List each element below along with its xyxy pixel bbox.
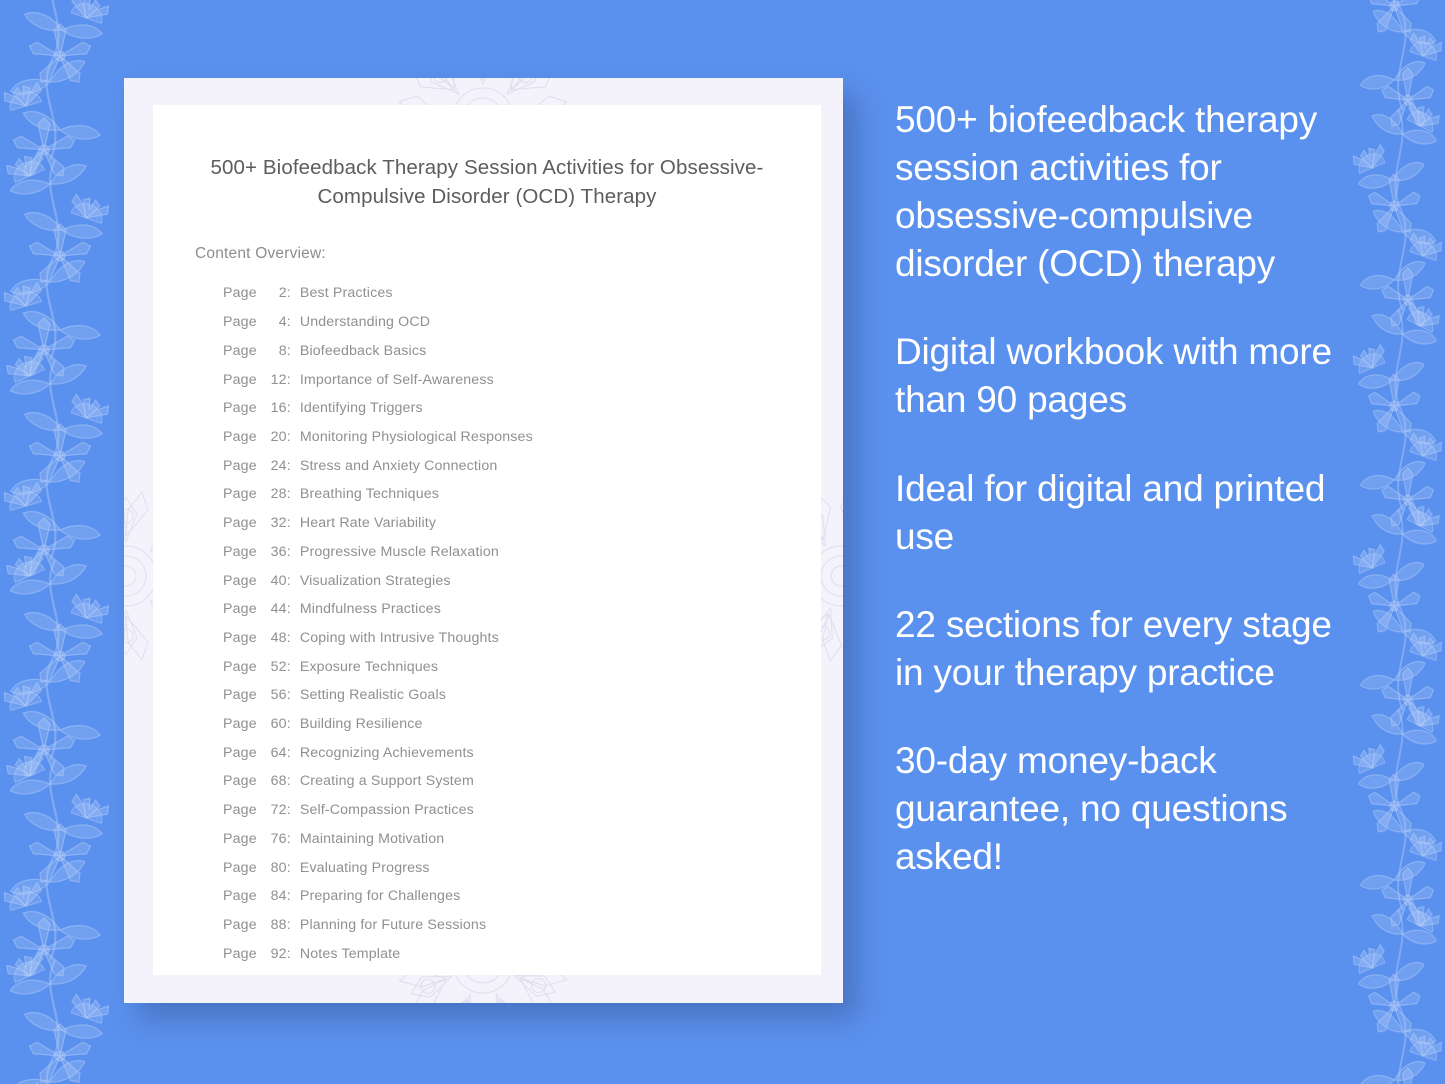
workbook-page: 500+ Biofeedback Therapy Session Activit…: [153, 105, 821, 975]
toc-entry-title: Creating a Support System: [300, 774, 474, 788]
toc-entry: Page24:Stress and Anxiety Connection: [223, 451, 821, 480]
toc-page-word: Page: [223, 889, 257, 903]
toc-page-word: Page: [223, 430, 257, 444]
toc-entry-title: Notes Template: [300, 947, 400, 961]
toc-page-number: 72: [261, 803, 287, 817]
toc-page-number: 20: [261, 430, 287, 444]
toc-page-number: 64: [261, 746, 287, 760]
toc-page-number: 12: [261, 373, 287, 387]
toc-page-number: 88: [261, 918, 287, 932]
toc-colon: :: [287, 459, 291, 473]
toc-colon: :: [287, 430, 291, 444]
toc-entry: Page84:Preparing for Challenges: [223, 882, 821, 911]
marketing-copy: 500+ biofeedback therapy session activit…: [895, 96, 1355, 881]
toc-page-number: 40: [261, 574, 287, 588]
toc-entry-title: Biofeedback Basics: [300, 344, 427, 358]
toc-colon: :: [287, 832, 291, 846]
toc-entry-title: Identifying Triggers: [300, 401, 423, 415]
toc-entry: Page20:Monitoring Physiological Response…: [223, 423, 821, 452]
toc-page-number: 84: [261, 889, 287, 903]
toc-page-number: 36: [261, 545, 287, 559]
toc-entry-title: Recognizing Achievements: [300, 746, 474, 760]
toc-page-number: 60: [261, 717, 287, 731]
workbook-card: 500+ Biofeedback Therapy Session Activit…: [124, 78, 843, 1003]
toc-entry: Page36:Progressive Muscle Relaxation: [223, 538, 821, 567]
toc-page-number: 56: [261, 688, 287, 702]
toc-entry: Page68:Creating a Support System: [223, 767, 821, 796]
toc-entry: Page88:Planning for Future Sessions: [223, 911, 821, 940]
toc-page-word: Page: [223, 286, 257, 300]
toc-page-word: Page: [223, 344, 257, 358]
marketing-block: Ideal for digital and printed use: [895, 465, 1355, 561]
toc-page-word: Page: [223, 746, 257, 760]
toc-entry-title: Evaluating Progress: [300, 861, 430, 875]
toc-colon: :: [287, 344, 291, 358]
toc-colon: :: [287, 918, 291, 932]
toc-page-word: Page: [223, 487, 257, 501]
table-of-contents: Page2:Best PracticesPage4:Understanding …: [153, 263, 821, 968]
toc-page-word: Page: [223, 832, 257, 846]
toc-entry: Page16:Identifying Triggers: [223, 394, 821, 423]
toc-page-word: Page: [223, 459, 257, 473]
toc-entry-title: Setting Realistic Goals: [300, 688, 446, 702]
marketing-block: 22 sections for every stage in your ther…: [895, 601, 1355, 697]
toc-page-word: Page: [223, 947, 257, 961]
toc-colon: :: [287, 947, 291, 961]
toc-entry-title: Progressive Muscle Relaxation: [300, 545, 499, 559]
toc-entry-title: Building Resilience: [300, 717, 423, 731]
content-overview-label: Content Overview:: [153, 211, 821, 263]
toc-colon: :: [287, 889, 291, 903]
toc-entry-title: Best Practices: [300, 286, 393, 300]
toc-colon: :: [287, 315, 291, 329]
toc-entry-title: Understanding OCD: [300, 315, 430, 329]
left-floral-border: [0, 0, 130, 1084]
toc-colon: :: [287, 516, 291, 530]
toc-entry-title: Heart Rate Variability: [300, 516, 436, 530]
toc-colon: :: [287, 688, 291, 702]
toc-entry: Page48:Coping with Intrusive Thoughts: [223, 624, 821, 653]
toc-page-word: Page: [223, 717, 257, 731]
toc-colon: :: [287, 746, 291, 760]
page-title: 500+ Biofeedback Therapy Session Activit…: [153, 105, 821, 211]
toc-entry-title: Monitoring Physiological Responses: [300, 430, 533, 444]
toc-colon: :: [287, 861, 291, 875]
toc-entry: Page92:Notes Template: [223, 939, 821, 968]
toc-colon: :: [287, 602, 291, 616]
toc-entry: Page80:Evaluating Progress: [223, 853, 821, 882]
toc-entry-title: Coping with Intrusive Thoughts: [300, 631, 499, 645]
toc-entry: Page12:Importance of Self-Awareness: [223, 365, 821, 394]
toc-entry: Page60:Building Resilience: [223, 710, 821, 739]
toc-colon: :: [287, 373, 291, 387]
toc-page-word: Page: [223, 315, 257, 329]
toc-page-word: Page: [223, 774, 257, 788]
toc-page-number: 8: [261, 344, 287, 358]
toc-page-word: Page: [223, 688, 257, 702]
toc-page-word: Page: [223, 373, 257, 387]
toc-entry: Page64:Recognizing Achievements: [223, 738, 821, 767]
marketing-block: 500+ biofeedback therapy session activit…: [895, 96, 1355, 288]
toc-page-number: 2: [261, 286, 287, 300]
toc-colon: :: [287, 774, 291, 788]
toc-colon: :: [287, 574, 291, 588]
toc-colon: :: [287, 717, 291, 731]
marketing-block: Digital workbook with more than 90 pages: [895, 328, 1355, 424]
toc-page-number: 4: [261, 315, 287, 329]
toc-page-number: 28: [261, 487, 287, 501]
toc-page-number: 92: [261, 947, 287, 961]
toc-entry: Page56:Setting Realistic Goals: [223, 681, 821, 710]
toc-entry-title: Visualization Strategies: [300, 574, 451, 588]
toc-page-number: 76: [261, 832, 287, 846]
toc-entry: Page44:Mindfulness Practices: [223, 595, 821, 624]
toc-colon: :: [287, 631, 291, 645]
toc-colon: :: [287, 286, 291, 300]
toc-entry-title: Maintaining Motivation: [300, 832, 444, 846]
toc-entry: Page40:Visualization Strategies: [223, 566, 821, 595]
toc-entry: Page76:Maintaining Motivation: [223, 825, 821, 854]
toc-page-word: Page: [223, 631, 257, 645]
toc-page-word: Page: [223, 574, 257, 588]
toc-entry-title: Importance of Self-Awareness: [300, 373, 494, 387]
toc-entry-title: Mindfulness Practices: [300, 602, 441, 616]
toc-colon: :: [287, 545, 291, 559]
toc-page-word: Page: [223, 660, 257, 674]
toc-entry: Page8:Biofeedback Basics: [223, 337, 821, 366]
toc-page-number: 48: [261, 631, 287, 645]
toc-page-word: Page: [223, 401, 257, 415]
toc-page-word: Page: [223, 861, 257, 875]
toc-entry: Page72:Self-Compassion Practices: [223, 796, 821, 825]
toc-colon: :: [287, 803, 291, 817]
toc-entry-title: Self-Compassion Practices: [300, 803, 474, 817]
toc-page-word: Page: [223, 918, 257, 932]
toc-colon: :: [287, 660, 291, 674]
toc-colon: :: [287, 401, 291, 415]
toc-page-number: 32: [261, 516, 287, 530]
toc-colon: :: [287, 487, 291, 501]
toc-entry: Page2:Best Practices: [223, 279, 821, 308]
toc-page-number: 80: [261, 861, 287, 875]
toc-entry: Page32:Heart Rate Variability: [223, 509, 821, 538]
toc-page-number: 52: [261, 660, 287, 674]
toc-entry: Page52:Exposure Techniques: [223, 652, 821, 681]
toc-entry-title: Breathing Techniques: [300, 487, 439, 501]
toc-page-number: 68: [261, 774, 287, 788]
toc-entry-title: Preparing for Challenges: [300, 889, 461, 903]
toc-entry: Page4:Understanding OCD: [223, 308, 821, 337]
toc-page-number: 24: [261, 459, 287, 473]
toc-entry-title: Stress and Anxiety Connection: [300, 459, 498, 473]
toc-page-word: Page: [223, 516, 257, 530]
toc-entry-title: Exposure Techniques: [300, 660, 438, 674]
toc-entry-title: Planning for Future Sessions: [300, 918, 486, 932]
toc-page-word: Page: [223, 803, 257, 817]
toc-page-word: Page: [223, 602, 257, 616]
toc-entry: Page28:Breathing Techniques: [223, 480, 821, 509]
toc-page-word: Page: [223, 545, 257, 559]
toc-page-number: 16: [261, 401, 287, 415]
marketing-block: 30-day money-back guarantee, no question…: [895, 737, 1355, 881]
toc-page-number: 44: [261, 602, 287, 616]
